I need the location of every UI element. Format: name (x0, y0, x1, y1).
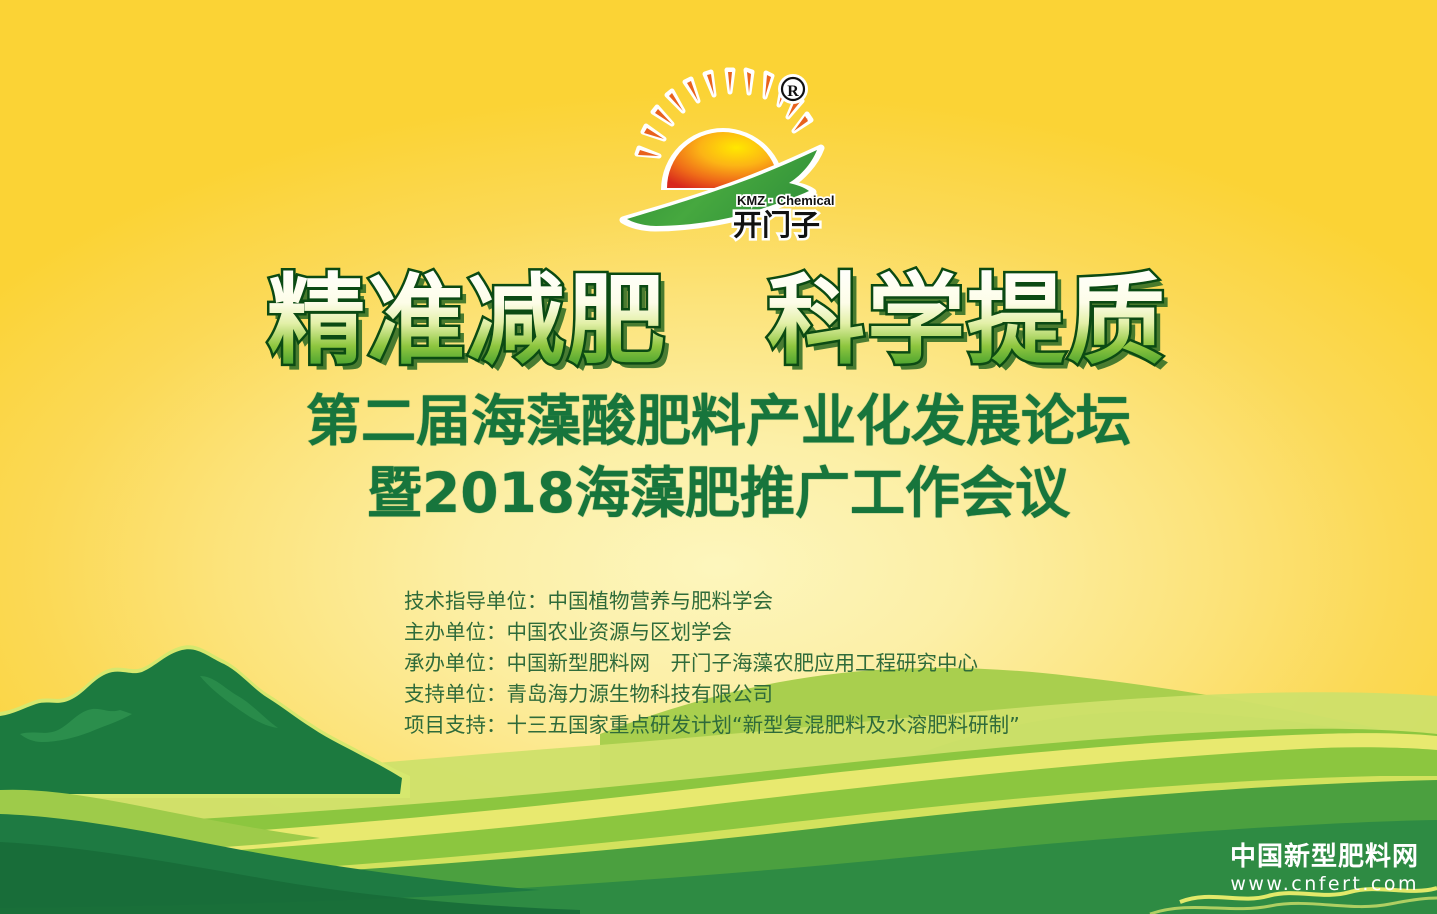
watermark-site-url: www.cnfert.com (1230, 872, 1419, 896)
subtitle-line-1: 第二届海藻酸肥料产业化发展论坛 (0, 394, 1437, 456)
info-line-technical-guidance: 技术指导单位：中国植物营养与肥料学会 (404, 586, 1164, 617)
headline-art: 精准减肥 科学提质 精准减肥 科学提质 (189, 266, 1249, 388)
info-line-project-support: 项目支持：十三五国家重点研发计划“新型复混肥料及水溶肥料研制” (404, 710, 1164, 741)
info-line-supporter: 支持单位：青岛海力源生物科技有限公司 (404, 679, 1164, 710)
organizer-info-block: 技术指导单位：中国植物营养与肥料学会 主办单位：中国农业资源与区划学会 承办单位… (404, 586, 1164, 741)
logo-brand-en: KMZ · Chemical (737, 193, 835, 208)
watermark-site-name: 中国新型肥料网 (1230, 842, 1419, 872)
logo-illustration: KMZ · Chemical 开门子 R (615, 62, 845, 247)
site-watermark: 中国新型肥料网 www.cnfert.com (1230, 842, 1419, 896)
registered-trademark-icon: R (787, 83, 799, 100)
poster-canvas: KMZ · Chemical 开门子 R 精准减肥 科学提质 精准减 (0, 0, 1437, 914)
company-logo: KMZ · Chemical 开门子 R (615, 62, 845, 247)
mountain-silhouette (0, 649, 402, 794)
subtitle-block: 第二届海藻酸肥料产业化发展论坛 暨2018海藻肥推广工作会议 (0, 394, 1437, 528)
info-line-host: 主办单位：中国农业资源与区划学会 (404, 617, 1164, 648)
info-line-organizer: 承办单位：中国新型肥料网 开门子海藻农肥应用工程研究中心 (404, 648, 1164, 679)
headline-text: 精准减肥 科学提质 (266, 266, 1166, 378)
logo-brand-cn: 开门子 (733, 208, 820, 242)
subtitle-line-2: 暨2018海藻肥推广工作会议 (0, 466, 1437, 528)
headline-block: 精准减肥 科学提质 精准减肥 科学提质 (0, 266, 1437, 388)
